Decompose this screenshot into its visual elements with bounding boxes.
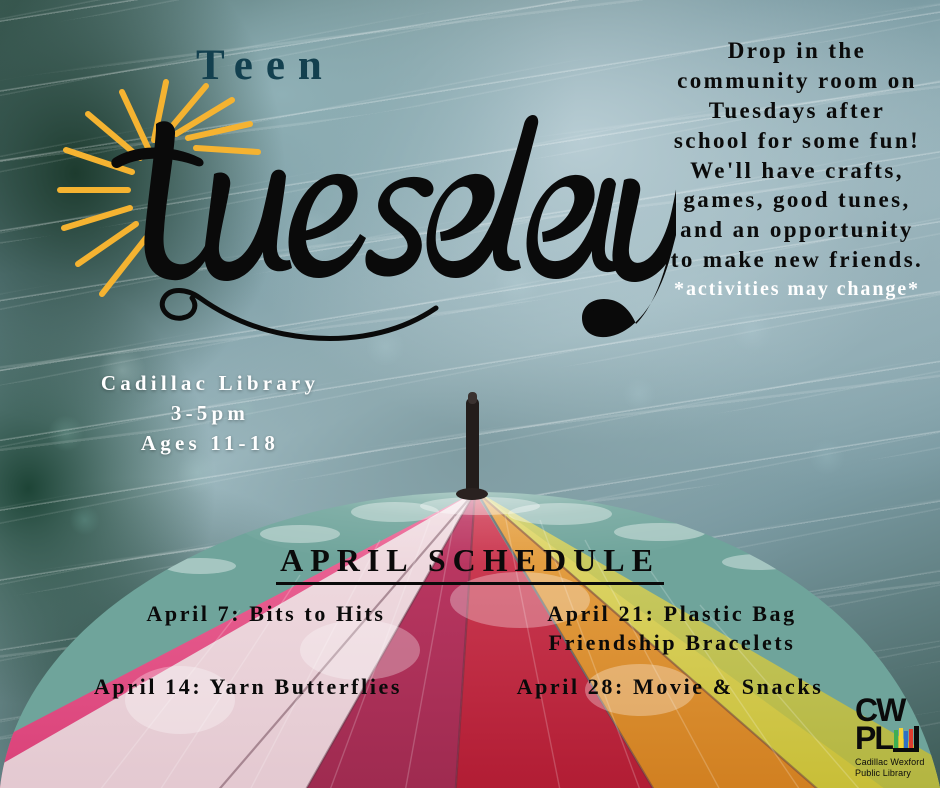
schedule-item-1: April 7: Bits to Hits <box>96 600 436 629</box>
library-ages: Ages 11-18 <box>60 428 360 458</box>
flourish-swash <box>162 291 436 339</box>
title-script-tuesdays <box>36 72 676 352</box>
library-info-block: Cadillac Library 3-5pm Ages 11-18 <box>60 368 360 459</box>
title-teen: Teen <box>196 44 335 87</box>
activities-note: *activities may change* <box>668 277 926 302</box>
library-time: 3-5pm <box>60 398 360 428</box>
logo-name-line-1: Cadillac Wexford <box>855 757 935 768</box>
library-name: Cadillac Library <box>60 368 360 398</box>
schedule-item-label: April 14: Yarn Butterflies <box>94 674 402 699</box>
schedule-item-label: April 7: Bits to Hits <box>146 601 385 626</box>
description-text: Drop in the community room on Tuesdays a… <box>671 38 923 272</box>
poster-canvas: Teen Cadillac Library 3-5pm Ages 11-18 D… <box>0 0 940 788</box>
schedule-heading-text: APRIL SCHEDULE <box>276 542 664 585</box>
schedule-item-label: April 28: Movie & Snacks <box>517 674 824 699</box>
logo-name-line-2: Public Library <box>855 768 935 779</box>
schedule-heading: APRIL SCHEDULE <box>0 542 940 579</box>
logo-pl-text: PL <box>855 720 892 756</box>
schedule-item-3: April 21: Plastic Bag Friendship Bracele… <box>492 600 852 657</box>
book-spines-icon <box>893 726 919 757</box>
schedule-item-2: April 14: Yarn Butterflies <box>48 673 448 702</box>
description-block: Drop in the community room on Tuesdays a… <box>668 36 926 302</box>
schedule-item-4: April 28: Movie & Snacks <box>460 673 880 702</box>
schedule-item-label: April 21: Plastic Bag Friendship Bracele… <box>547 601 797 655</box>
umbrella-finial <box>456 392 488 500</box>
library-logo: CW PL Cadillac Wexford Public Library <box>855 697 935 781</box>
